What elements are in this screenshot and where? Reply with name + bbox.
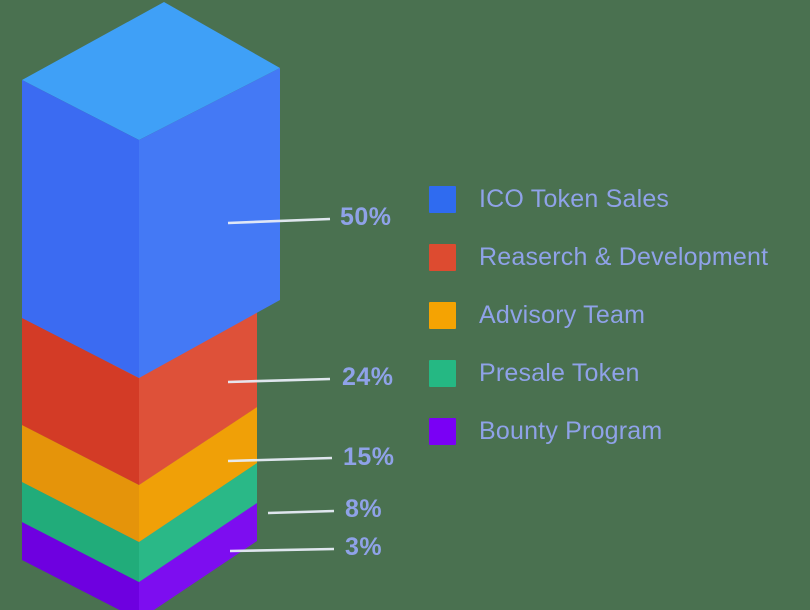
legend-item-presale-token[interactable]: Presale Token (429, 344, 801, 402)
legend-item-ico-token-sales[interactable]: ICO Token Sales (429, 170, 801, 228)
callout-label-advisory-team: 15% (343, 443, 395, 472)
callout-label-research-development: 24% (342, 363, 394, 392)
callout-label-bounty-program: 3% (345, 533, 382, 562)
chart-legend: ICO Token Sales Reaserch & Development A… (429, 170, 801, 460)
legend-label-presale-token: Presale Token (479, 359, 640, 388)
legend-swatch-icon-presale-token (429, 360, 456, 387)
legend-swatch-icon-bounty-program (429, 418, 456, 445)
callout-label-presale-token: 8% (345, 495, 382, 524)
legend-item-bounty-program[interactable]: Bounty Program (429, 402, 801, 460)
legend-label-advisory-team: Advisory Team (479, 301, 645, 330)
chart-canvas: 50% 24% 15% 8% 3% ICO Token Sales Reaser… (0, 0, 810, 610)
legend-swatch-icon-ico-token-sales (429, 186, 456, 213)
callout-label-ico-token-sales: 50% (340, 203, 392, 232)
legend-item-research-development[interactable]: Reaserch & Development (429, 228, 801, 286)
leader-line-8 (268, 511, 334, 513)
legend-item-advisory-team[interactable]: Advisory Team (429, 286, 801, 344)
leader-line-3 (230, 549, 334, 551)
legend-label-research-development: Reaserch & Development (479, 243, 768, 272)
legend-label-bounty-program: Bounty Program (479, 417, 662, 446)
legend-swatch-icon-advisory-team (429, 302, 456, 329)
legend-swatch-icon-research-development (429, 244, 456, 271)
legend-label-ico-token-sales: ICO Token Sales (479, 185, 669, 214)
